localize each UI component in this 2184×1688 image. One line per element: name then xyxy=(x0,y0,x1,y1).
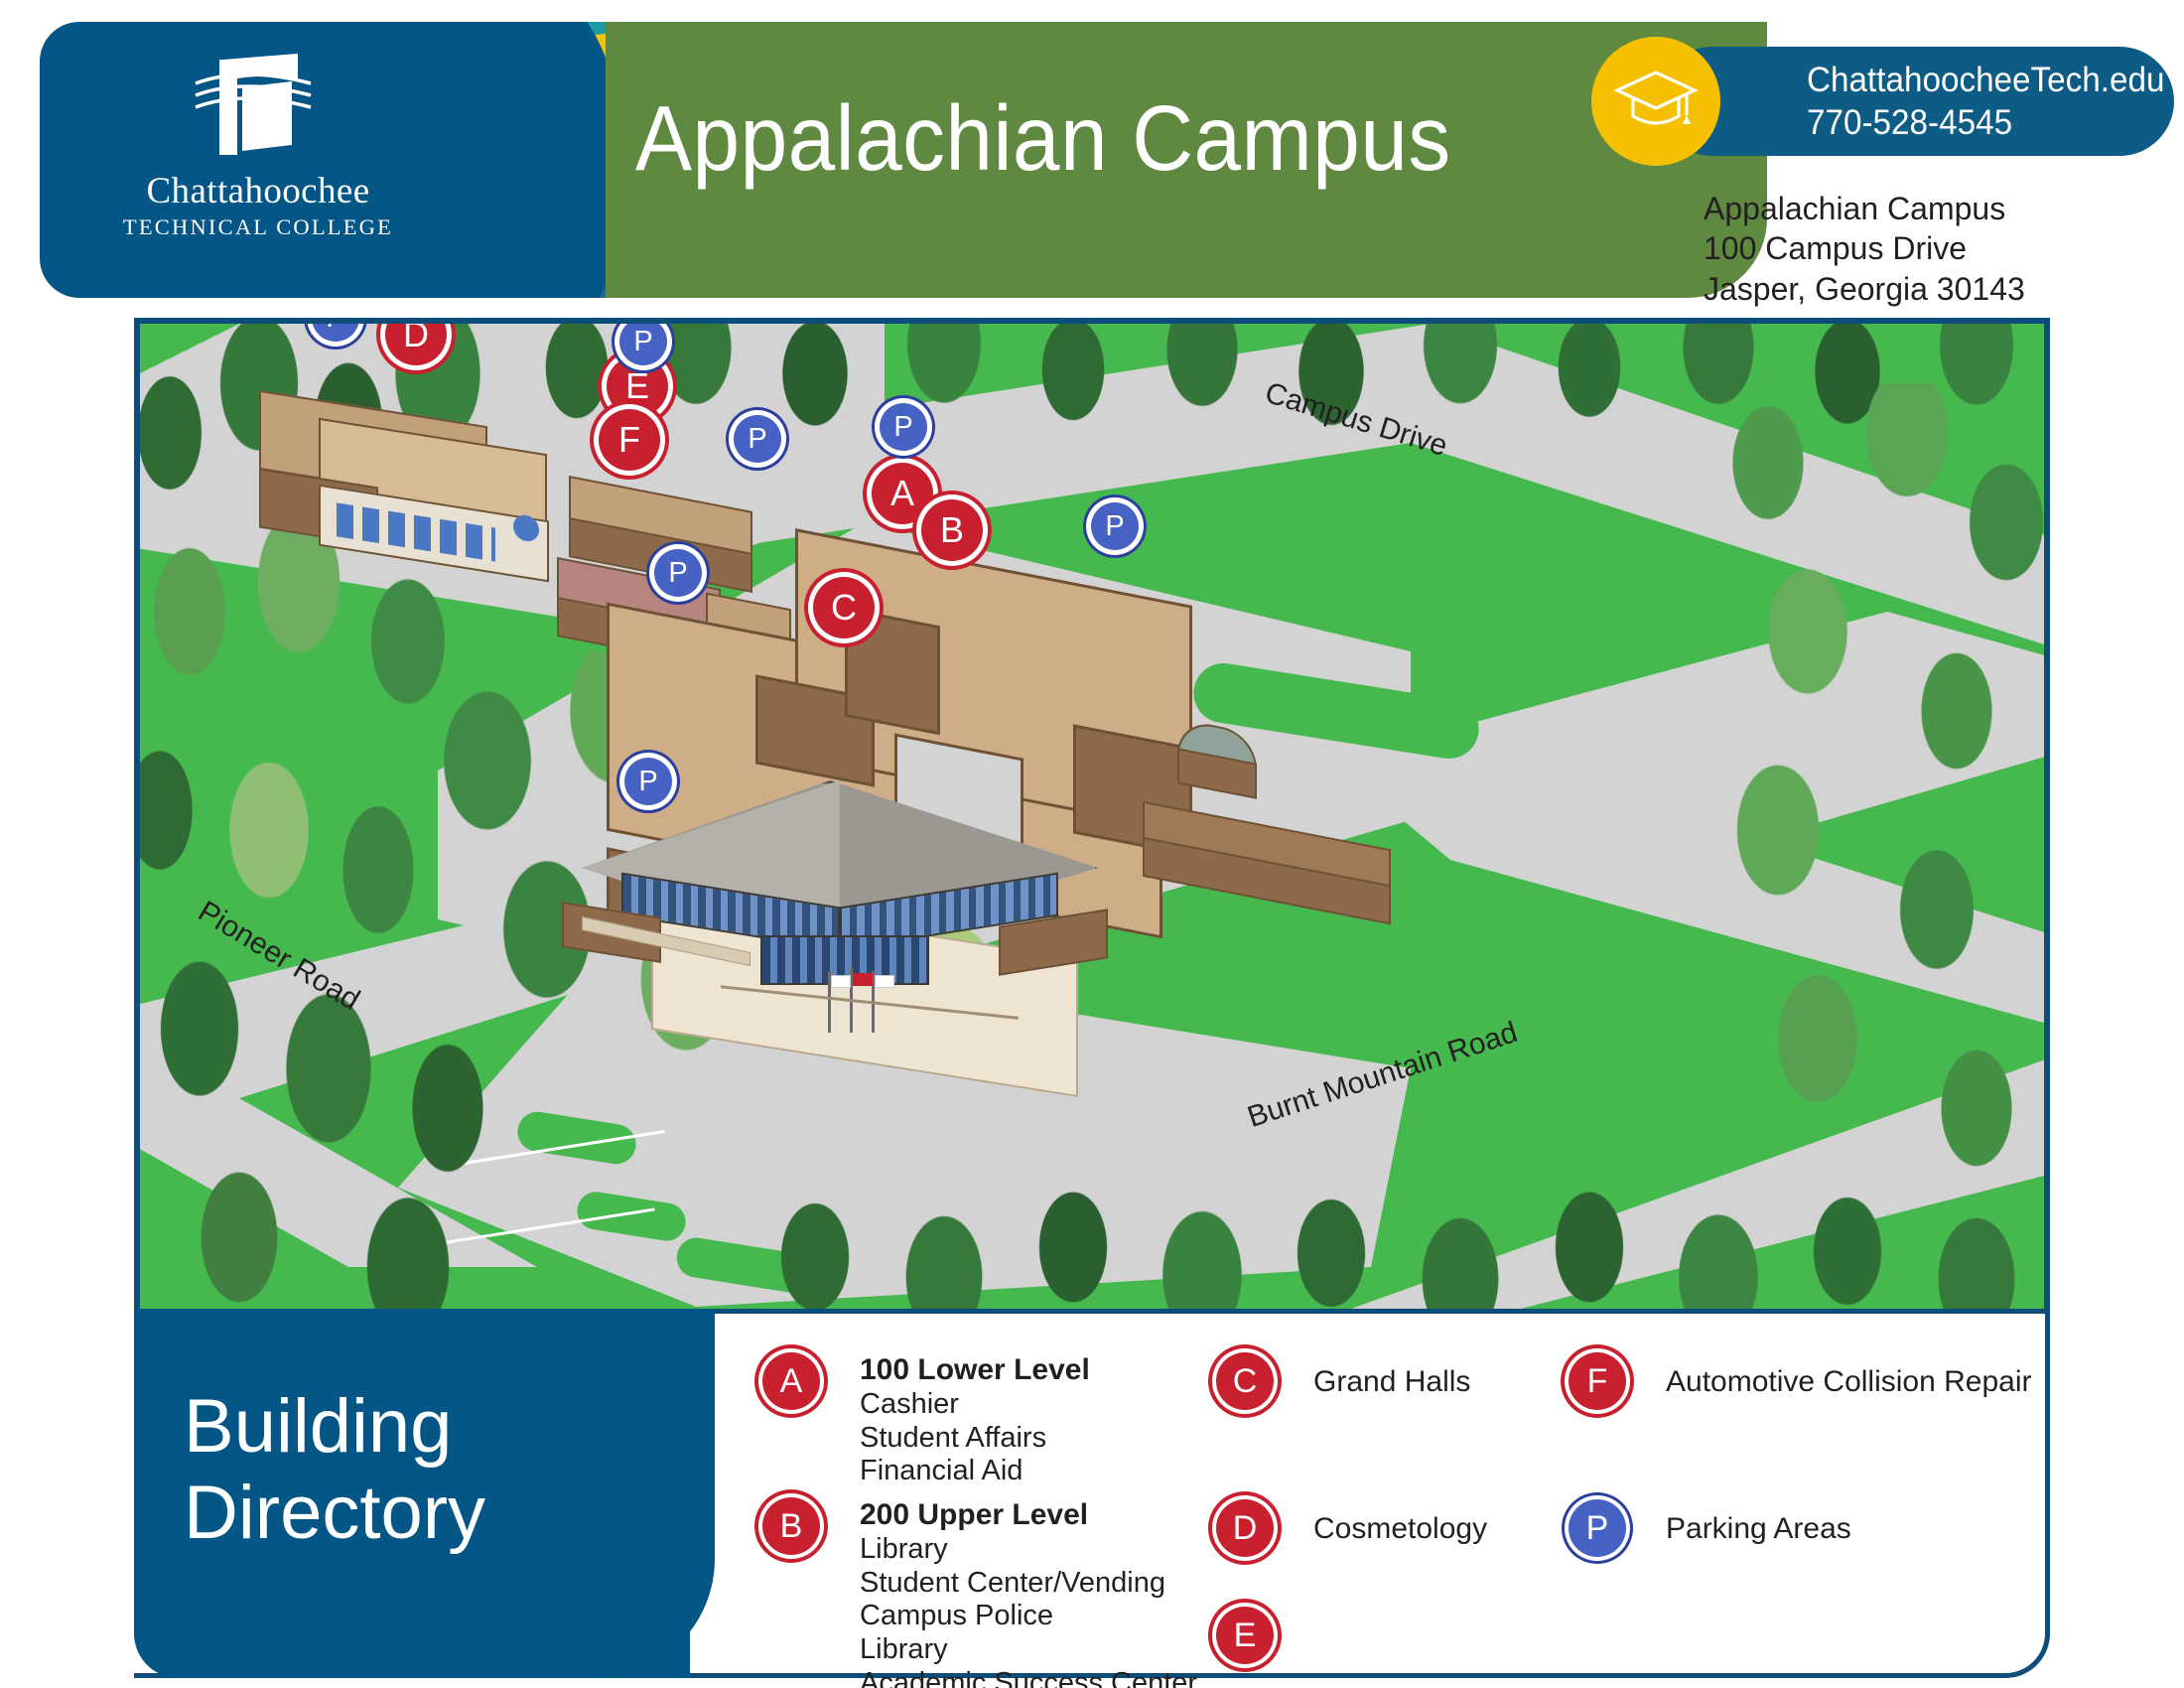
decor-mask xyxy=(427,22,606,298)
map-marker-parking-6[interactable]: P xyxy=(654,549,702,597)
legend-badge-a: A xyxy=(762,1352,820,1410)
legend-entry-parking[interactable]: P Parking Areas xyxy=(1569,1499,1851,1557)
address-line-1: Appalachian Campus xyxy=(1704,189,2025,228)
legend-item-a-2: Financial Aid xyxy=(860,1455,1090,1488)
legend-entry-c[interactable]: C Grand Halls xyxy=(1216,1352,1470,1410)
legend-entry-b[interactable]: B 200 Upper Level Library Student Center… xyxy=(762,1497,1197,1688)
trees-south xyxy=(736,1148,2050,1316)
legend-heading-a: 100 Lower Level xyxy=(860,1352,1090,1388)
legend-badge-b: B xyxy=(762,1497,820,1555)
map-marker-parking-2[interactable]: P xyxy=(619,318,667,365)
campus-address: Appalachian Campus 100 Campus Drive Jasp… xyxy=(1704,189,2025,309)
page-title: Appalachian Campus xyxy=(635,85,1451,192)
directory-title: Building Directory xyxy=(184,1384,485,1556)
legend-label-f: Automotive Collision Repair xyxy=(1666,1352,2032,1400)
book-flag-icon xyxy=(194,48,323,167)
map-marker-f[interactable]: F xyxy=(599,409,660,471)
legend-item-b-3: Library xyxy=(860,1633,1197,1667)
logo-college-name: Chattahoochee xyxy=(109,173,407,210)
address-line-2: 100 Campus Drive xyxy=(1704,228,2025,268)
map-marker-b[interactable]: B xyxy=(921,499,983,561)
campus-map[interactable]: Campus Drive Pioneer Road Burnt Mountain… xyxy=(134,318,2050,1316)
legend-item-b-2: Campus Police xyxy=(860,1600,1197,1633)
phone-number[interactable]: 770-528-4545 xyxy=(1807,103,2012,143)
legend-entry-d[interactable]: D Cosmetology xyxy=(1216,1499,1487,1557)
campus-map-page: Chattahoochee TECHNICAL COLLEGE Appalach… xyxy=(0,0,2184,1688)
graduation-cap-badge xyxy=(1591,37,1720,166)
legend-text-b: 200 Upper Level Library Student Center/V… xyxy=(860,1497,1197,1688)
legend-badge-parking: P xyxy=(1569,1499,1626,1557)
legend-text-a: 100 Lower Level Cashier Student Affairs … xyxy=(860,1352,1090,1488)
legend-item-a-1: Student Affairs xyxy=(860,1422,1090,1456)
legend-label-c: Grand Halls xyxy=(1313,1352,1470,1400)
logo-college-subtitle: TECHNICAL COLLEGE xyxy=(109,214,407,240)
directory-title-line-2: Directory xyxy=(184,1471,485,1557)
legend-item-a-0: Cashier xyxy=(860,1388,1090,1422)
legend-label-parking: Parking Areas xyxy=(1666,1499,1851,1547)
legend-item-b-1: Student Center/Vending xyxy=(860,1567,1197,1601)
legend-entry-a[interactable]: A 100 Lower Level Cashier Student Affair… xyxy=(762,1352,1090,1488)
legend-badge-d: D xyxy=(1216,1499,1274,1557)
legend-entry-e[interactable]: E xyxy=(1216,1607,1313,1664)
map-marker-c[interactable]: C xyxy=(813,577,875,638)
legend-label-d: Cosmetology xyxy=(1313,1499,1487,1547)
legend-badge-f: F xyxy=(1569,1352,1626,1410)
map-marker-parking-5[interactable]: P xyxy=(1091,502,1139,550)
legend-entry-f[interactable]: F Automotive Collision Repair xyxy=(1569,1352,2032,1410)
legend-item-b-0: Library xyxy=(860,1533,1197,1567)
legend-badge-c: C xyxy=(1216,1352,1274,1410)
building-d-cosmetology[interactable] xyxy=(259,388,557,557)
trees-east xyxy=(1689,383,2050,1197)
address-line-3: Jasper, Georgia 30143 xyxy=(1704,269,2025,309)
legend-heading-b: 200 Upper Level xyxy=(860,1497,1197,1533)
college-logo: Chattahoochee TECHNICAL COLLEGE xyxy=(109,48,407,240)
map-marker-parking-7[interactable]: P xyxy=(624,758,672,805)
graduation-cap-icon xyxy=(1613,69,1699,134)
map-marker-parking-4[interactable]: P xyxy=(734,415,781,463)
legend-item-b-4: Academic Success Center xyxy=(860,1667,1197,1688)
building-directory-footer: Building Directory A 100 Lower Level Cas… xyxy=(0,1309,2184,1688)
website-link[interactable]: ChattahoocheeTech.edu xyxy=(1807,61,2164,100)
contact-pill: ChattahoocheeTech.edu 770-528-4545 xyxy=(1658,47,2174,156)
map-marker-parking-3[interactable]: P xyxy=(880,403,927,451)
page-header: Chattahoochee TECHNICAL COLLEGE Appalach… xyxy=(0,0,2184,298)
directory-title-line-1: Building xyxy=(184,1384,485,1471)
legend-badge-e: E xyxy=(1216,1607,1274,1664)
